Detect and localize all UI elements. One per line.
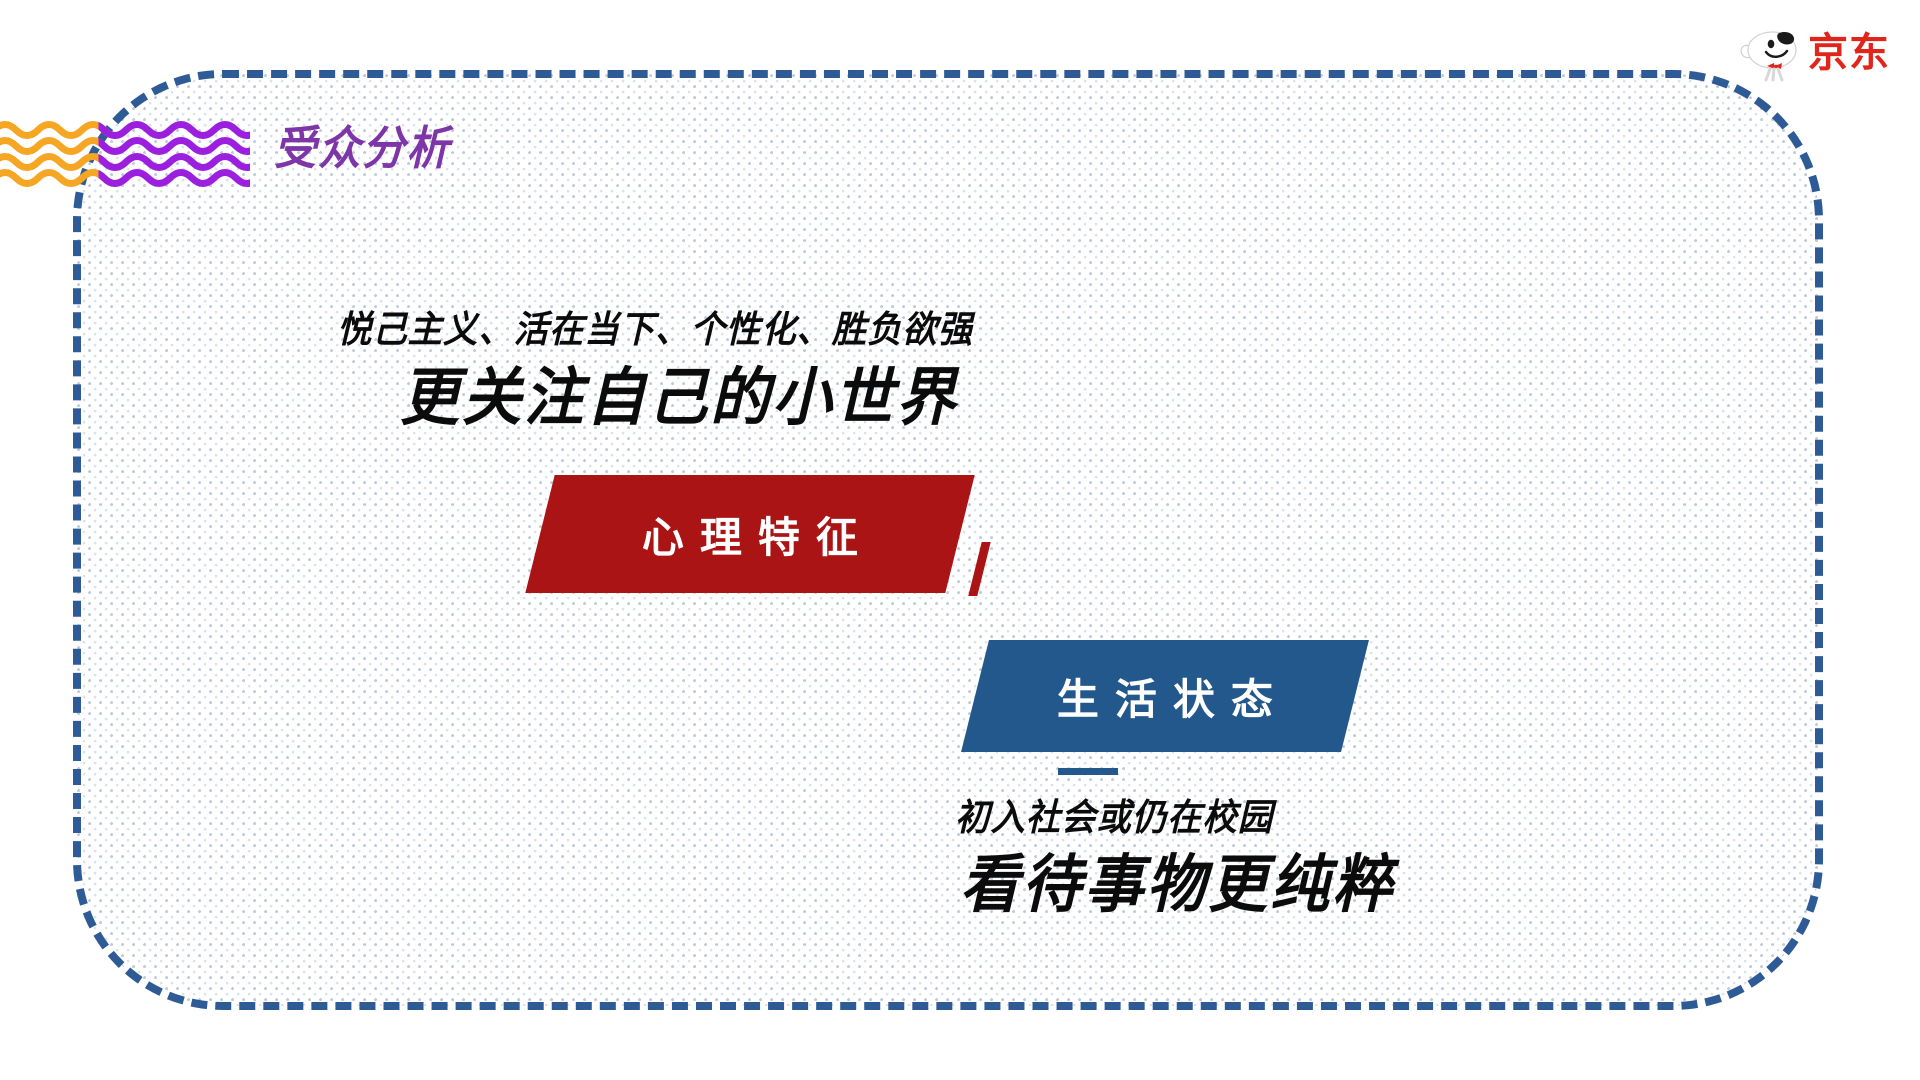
life-status-banner-label: 生活状态 xyxy=(1041,666,1289,727)
life-status-subtitle: 初入社会或仍在校园 xyxy=(955,798,1273,839)
psychological-subtitle: 悦己主义、活在当下、个性化、胜负欲强 xyxy=(337,310,973,351)
jd-brand-logo: 京东 xyxy=(1740,22,1915,84)
section-title: 受众分析 xyxy=(274,120,451,178)
psychological-headline: 更关注自己的小世界 xyxy=(400,365,958,431)
jd-joy-dog-icon xyxy=(1740,24,1802,82)
jd-brand-name: 京东 xyxy=(1808,33,1890,73)
life-status-headline: 看待事物更纯粹 xyxy=(960,852,1394,918)
psychological-banner: 心理特征 xyxy=(525,475,974,593)
life-status-banner: 生活状态 xyxy=(961,640,1369,752)
psychological-banner-label: 心理特征 xyxy=(626,504,874,565)
wavy-decoration xyxy=(0,118,250,190)
blue-divider-line xyxy=(1058,768,1118,775)
